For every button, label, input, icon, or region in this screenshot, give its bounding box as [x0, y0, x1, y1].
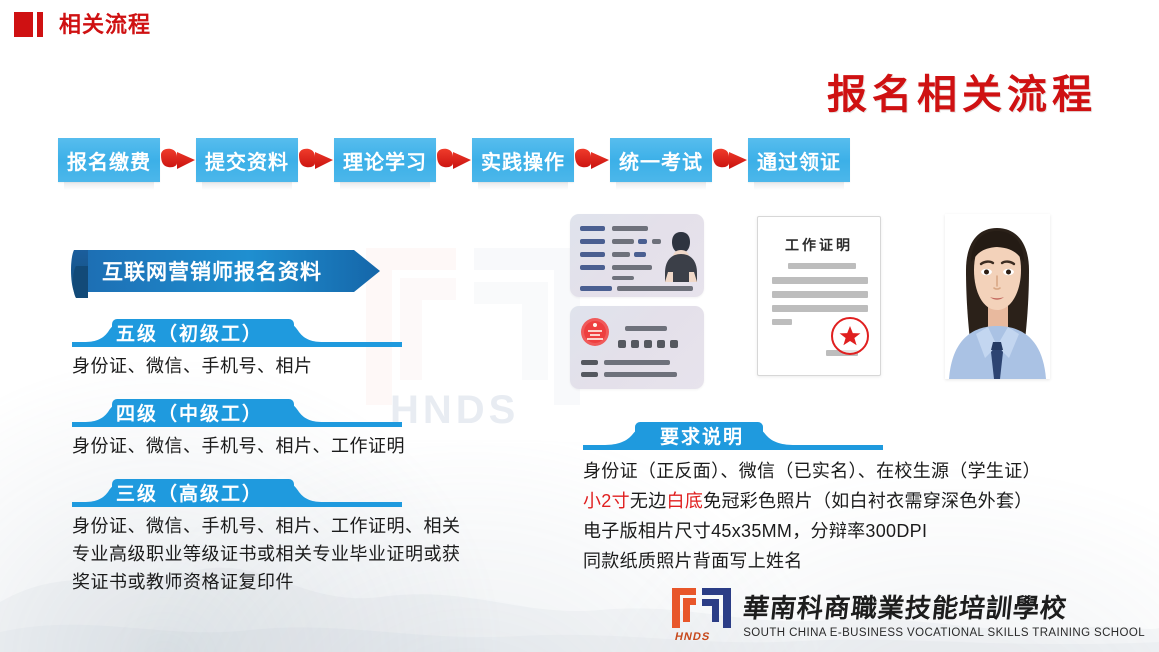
requirement-line: 同款纸质照片背面写上姓名: [583, 546, 1083, 576]
section-banner-label: 互联网营销师报名资料: [88, 250, 350, 292]
level-tab-5: 五级（初级工）: [72, 318, 472, 348]
requirement-line: 身份证（正反面）、微信（已实名）、在校生源（学生证）: [583, 456, 1083, 486]
flow-step-3[interactable]: 理论学习: [334, 138, 436, 182]
level-body-3: 身份证、微信、手机号、相片、工作证明、相关 专业高级职业等级证书或相关专业毕业证…: [72, 512, 472, 596]
header-bar-marker: [37, 12, 43, 37]
school-name-block: 華南科商職業技能培訓學校 SOUTH CHINA E-BUSINESS VOCA…: [743, 594, 1145, 640]
right-arrow-icon: [709, 144, 751, 176]
slide-canvas: HNDS 相关流程 报名相关流程 报名缴费 提交资料 理论学习 实践操作 统一考…: [0, 0, 1159, 652]
requirement-text: 身份证（正反面）、微信（已实名）、在校生源（学生证）: [583, 461, 1041, 481]
requirement-text: 无边: [630, 491, 667, 511]
logo-icon: [669, 584, 735, 632]
footer-logo: HNDS 華南科商職業技能培訓學校 SOUTH CHINA E-BUSINESS…: [669, 584, 1145, 640]
flow-step-label: 统一考试: [619, 146, 703, 175]
portrait-photo-illustration: [945, 214, 1050, 379]
level-body-line: 身份证、微信、手机号、相片: [72, 352, 472, 380]
requirements-tab-label: 要求说明: [660, 423, 744, 447]
right-arrow-icon: [295, 144, 337, 176]
header-square-marker: [14, 12, 33, 37]
logo-abbreviation: HNDS: [674, 631, 712, 643]
work-certificate-illustration: 工作证明: [757, 216, 881, 376]
level-body-line: 专业高级职业等级证书或相关专业毕业证明或获: [72, 540, 472, 568]
national-emblem-icon: [579, 317, 611, 349]
requirement-text: 电子版相片尺寸45x35MM，分辩率300DPI: [583, 521, 927, 541]
certificate-title: 工作证明: [758, 235, 880, 255]
right-arrow-icon: [157, 144, 199, 176]
flow-step-2[interactable]: 提交资料: [196, 138, 298, 182]
requirement-line: 电子版相片尺寸45x35MM，分辩率300DPI: [583, 516, 1083, 546]
level-tab-4: 四级（中级工）: [72, 398, 472, 428]
page-title: 报名相关流程: [827, 62, 1097, 120]
requirements-body: 身份证（正反面）、微信（已实名）、在校生源（学生证） 小2寸无边白底免冠彩色照片…: [583, 456, 1083, 576]
level-body-line: 身份证、微信、手机号、相片、工作证明、相关: [72, 512, 472, 540]
section-banner: 互联网营销师报名资料: [68, 236, 388, 314]
level-body-4: 身份证、微信、手机号、相片、工作证明: [72, 432, 472, 460]
requirement-text: 免冠彩色照片（如白衬衣需穿深色外套）: [703, 491, 1032, 511]
id-photo-portrait: [945, 214, 1050, 379]
requirements-tab: 要求说明: [583, 421, 1083, 451]
flow-step-label: 通过领证: [757, 146, 841, 175]
header: 相关流程: [14, 12, 151, 37]
flow-step-4[interactable]: 实践操作: [472, 138, 574, 182]
right-arrow-icon: [571, 144, 613, 176]
flow-step-label: 提交资料: [205, 146, 289, 175]
portrait-silhouette-icon: [664, 228, 698, 284]
right-arrow-icon: [433, 144, 475, 176]
level-tab-label: 三级（高级工）: [116, 480, 263, 504]
level-body-line: 身份证、微信、手机号、相片、工作证明: [72, 432, 472, 460]
tab-shape: [583, 421, 1083, 451]
school-name-en: SOUTH CHINA E-BUSINESS VOCATIONAL SKILLS…: [743, 626, 1145, 640]
flow-step-label: 理论学习: [343, 146, 427, 175]
requirement-line: 小2寸无边白底免冠彩色照片（如白衬衣需穿深色外套）: [583, 486, 1083, 516]
flow-step-label: 报名缴费: [67, 146, 151, 175]
id-card-illustrations: [570, 214, 704, 398]
level-block-5: 五级（初级工） 身份证、微信、手机号、相片: [72, 318, 472, 380]
id-card-front-illustration: [570, 214, 704, 297]
process-flow: 报名缴费 提交资料 理论学习 实践操作 统一考试 通过领证: [58, 138, 850, 182]
school-name-cn: 華南科商職業技能培訓學校: [742, 594, 1147, 624]
id-card-back-illustration: [570, 306, 704, 389]
flow-step-1[interactable]: 报名缴费: [58, 138, 160, 182]
requirements-block: 要求说明 身份证（正反面）、微信（已实名）、在校生源（学生证） 小2寸无边白底免…: [583, 421, 1083, 576]
header-title: 相关流程: [59, 12, 151, 37]
red-star-stamp-icon: [831, 317, 869, 355]
flow-step-label: 实践操作: [481, 146, 565, 175]
level-tab-3: 三级（高级工）: [72, 478, 472, 508]
level-block-3: 三级（高级工） 身份证、微信、手机号、相片、工作证明、相关 专业高级职业等级证书…: [72, 478, 472, 596]
level-body-5: 身份证、微信、手机号、相片: [72, 352, 472, 380]
requirement-text-highlight: 白底: [667, 491, 704, 511]
flow-step-6[interactable]: 通过领证: [748, 138, 850, 182]
requirement-text: 同款纸质照片背面写上姓名: [583, 551, 803, 571]
level-tab-label: 五级（初级工）: [116, 320, 263, 344]
star-icon: [839, 325, 861, 347]
level-tab-label: 四级（中级工）: [116, 400, 263, 424]
school-logo-mark: HNDS: [669, 584, 735, 640]
level-block-4: 四级（中级工） 身份证、微信、手机号、相片、工作证明: [72, 398, 472, 460]
level-body-line: 奖证书或教师资格证复印件: [72, 568, 472, 596]
flow-step-5[interactable]: 统一考试: [610, 138, 712, 182]
requirement-text-highlight: 小2寸: [583, 491, 630, 511]
